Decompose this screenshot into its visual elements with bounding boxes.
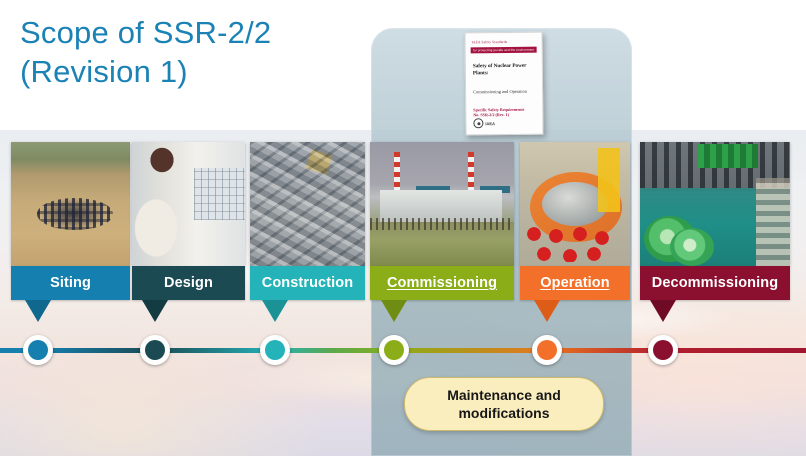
cover-red-band-text: for protecting people and the environmen… bbox=[471, 47, 537, 54]
timeline-node-operation[interactable] bbox=[532, 335, 562, 365]
stage-label-text: Operation bbox=[540, 275, 609, 291]
stage-label-design[interactable]: Design bbox=[132, 266, 245, 300]
stage-image-commissioning bbox=[370, 142, 514, 266]
iaea-logo-label: IAEA bbox=[485, 121, 495, 126]
stage-label-text: Design bbox=[164, 275, 213, 291]
maintenance-label-line-1: Maintenance and bbox=[447, 386, 561, 404]
timeline-node-decommissioning[interactable] bbox=[648, 335, 678, 365]
atom-icon bbox=[473, 118, 483, 128]
stage-label-text: Decommissioning bbox=[652, 275, 778, 291]
timeline-node-commissioning[interactable] bbox=[379, 335, 409, 365]
timeline-node-siting[interactable] bbox=[23, 335, 53, 365]
page-title: Scope of SSR-2/2 (Revision 1) bbox=[20, 14, 360, 92]
cover-title: Safety of Nuclear Power Plants: bbox=[473, 63, 535, 78]
cover-subtitle: Commissioning and Operation bbox=[473, 89, 535, 96]
timeline-node-construction[interactable] bbox=[260, 335, 290, 365]
stage-label-decommissioning[interactable]: Decommissioning bbox=[640, 266, 790, 300]
iaea-logo: IAEA bbox=[473, 118, 495, 128]
lifecycle-timeline bbox=[0, 344, 806, 357]
stage-label-text: Commissioning bbox=[387, 275, 497, 291]
ssr-2-2-publication-cover: IAEA Safety Standards for protecting peo… bbox=[464, 32, 543, 136]
stage-label-commissioning[interactable]: Commissioning bbox=[370, 266, 514, 300]
cover-series: Specific Safety Requirements No. SSR-2/2… bbox=[473, 107, 535, 118]
maintenance-callout: Maintenance and modifications bbox=[404, 377, 604, 431]
stage-image-construction bbox=[250, 142, 365, 266]
stage-image-siting bbox=[11, 142, 130, 266]
page-title-line-1: Scope of SSR-2/2 bbox=[20, 14, 360, 53]
stage-image-decommissioning bbox=[640, 142, 790, 266]
stage-label-text: Siting bbox=[50, 275, 91, 291]
stage-label-operation[interactable]: Operation bbox=[520, 266, 630, 300]
stage-label-siting[interactable]: Siting bbox=[11, 266, 130, 300]
maintenance-label-line-2: modifications bbox=[447, 404, 561, 422]
stage-image-operation bbox=[520, 142, 630, 266]
timeline-node-design[interactable] bbox=[140, 335, 170, 365]
page-title-line-2: (Revision 1) bbox=[20, 53, 360, 92]
stage-label-construction[interactable]: Construction bbox=[250, 266, 365, 300]
stage-image-design bbox=[132, 142, 245, 266]
stage-label-text: Construction bbox=[262, 275, 353, 291]
slide-canvas: Scope of SSR-2/2 (Revision 1) IAEA Safet… bbox=[0, 0, 806, 456]
